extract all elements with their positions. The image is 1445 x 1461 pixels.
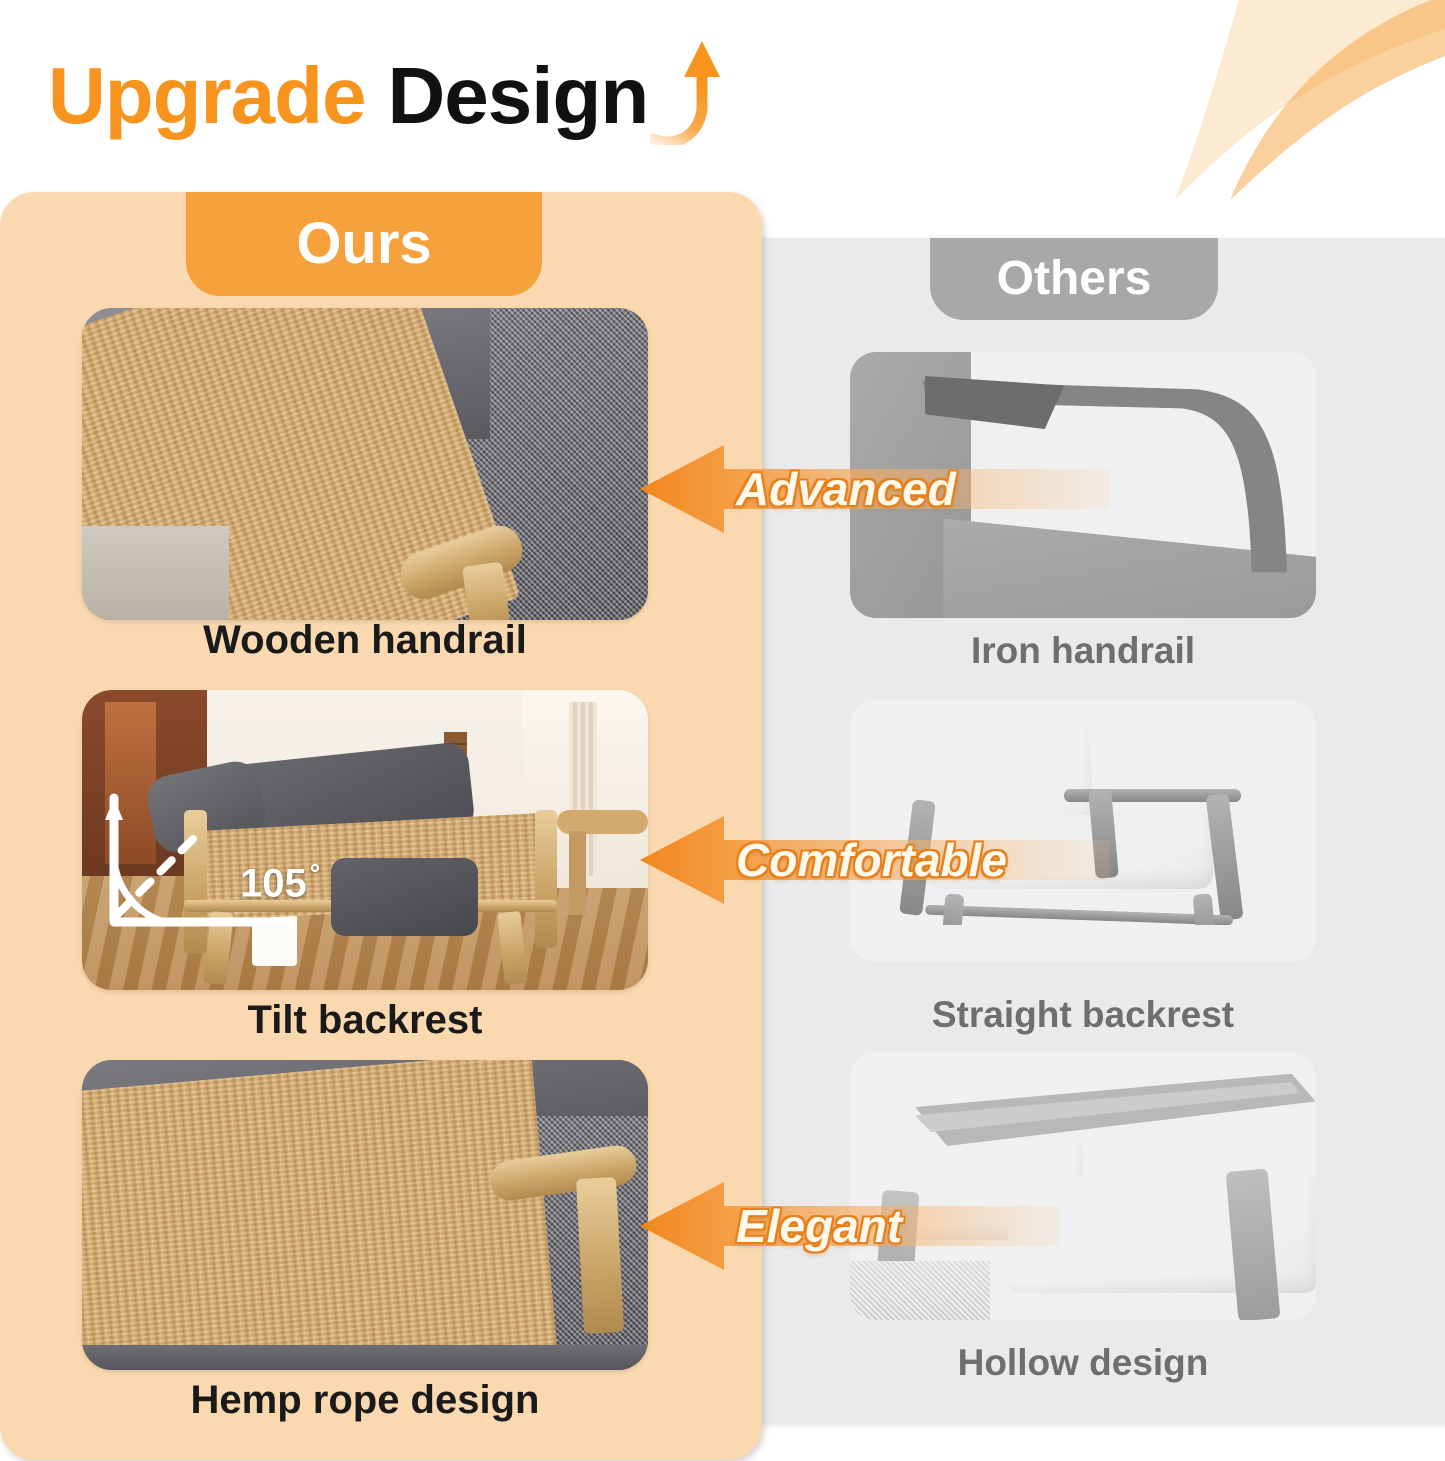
- title-design: Design: [388, 56, 649, 136]
- ours-caption-3: Hemp rope design: [82, 1380, 648, 1420]
- others-caption-1: Iron handrail: [850, 632, 1316, 669]
- others-card-2: [850, 700, 1316, 962]
- curved-up-arrow-icon: [650, 35, 722, 145]
- ours-caption-2: Tilt backrest: [82, 1000, 648, 1040]
- others-card-1: [850, 352, 1316, 618]
- others-caption-3: Hollow design: [850, 1344, 1316, 1381]
- ours-card-1: [82, 308, 648, 620]
- ours-card-2: 105°: [82, 690, 648, 990]
- corner-swoosh-decoration: [1125, 0, 1445, 200]
- page-header: Upgrade Design: [48, 48, 722, 144]
- others-image-3: [850, 1052, 1316, 1320]
- ours-image-1: [82, 308, 648, 620]
- ours-card-3: [82, 1060, 648, 1370]
- others-image-1: [850, 352, 1316, 618]
- others-caption-2: Straight backrest: [850, 996, 1316, 1033]
- title-upgrade: Upgrade: [48, 56, 366, 136]
- tab-ours: Ours: [186, 192, 542, 296]
- ours-image-3: [82, 1060, 648, 1370]
- others-image-2: [850, 700, 1316, 962]
- tab-others: Others: [930, 238, 1218, 320]
- ours-caption-1: Wooden handrail: [82, 620, 648, 660]
- infographic-root: Upgrade Design Others Ours: [0, 0, 1445, 1461]
- others-card-3: [850, 1052, 1316, 1320]
- angle-value-label: 105°: [240, 858, 320, 906]
